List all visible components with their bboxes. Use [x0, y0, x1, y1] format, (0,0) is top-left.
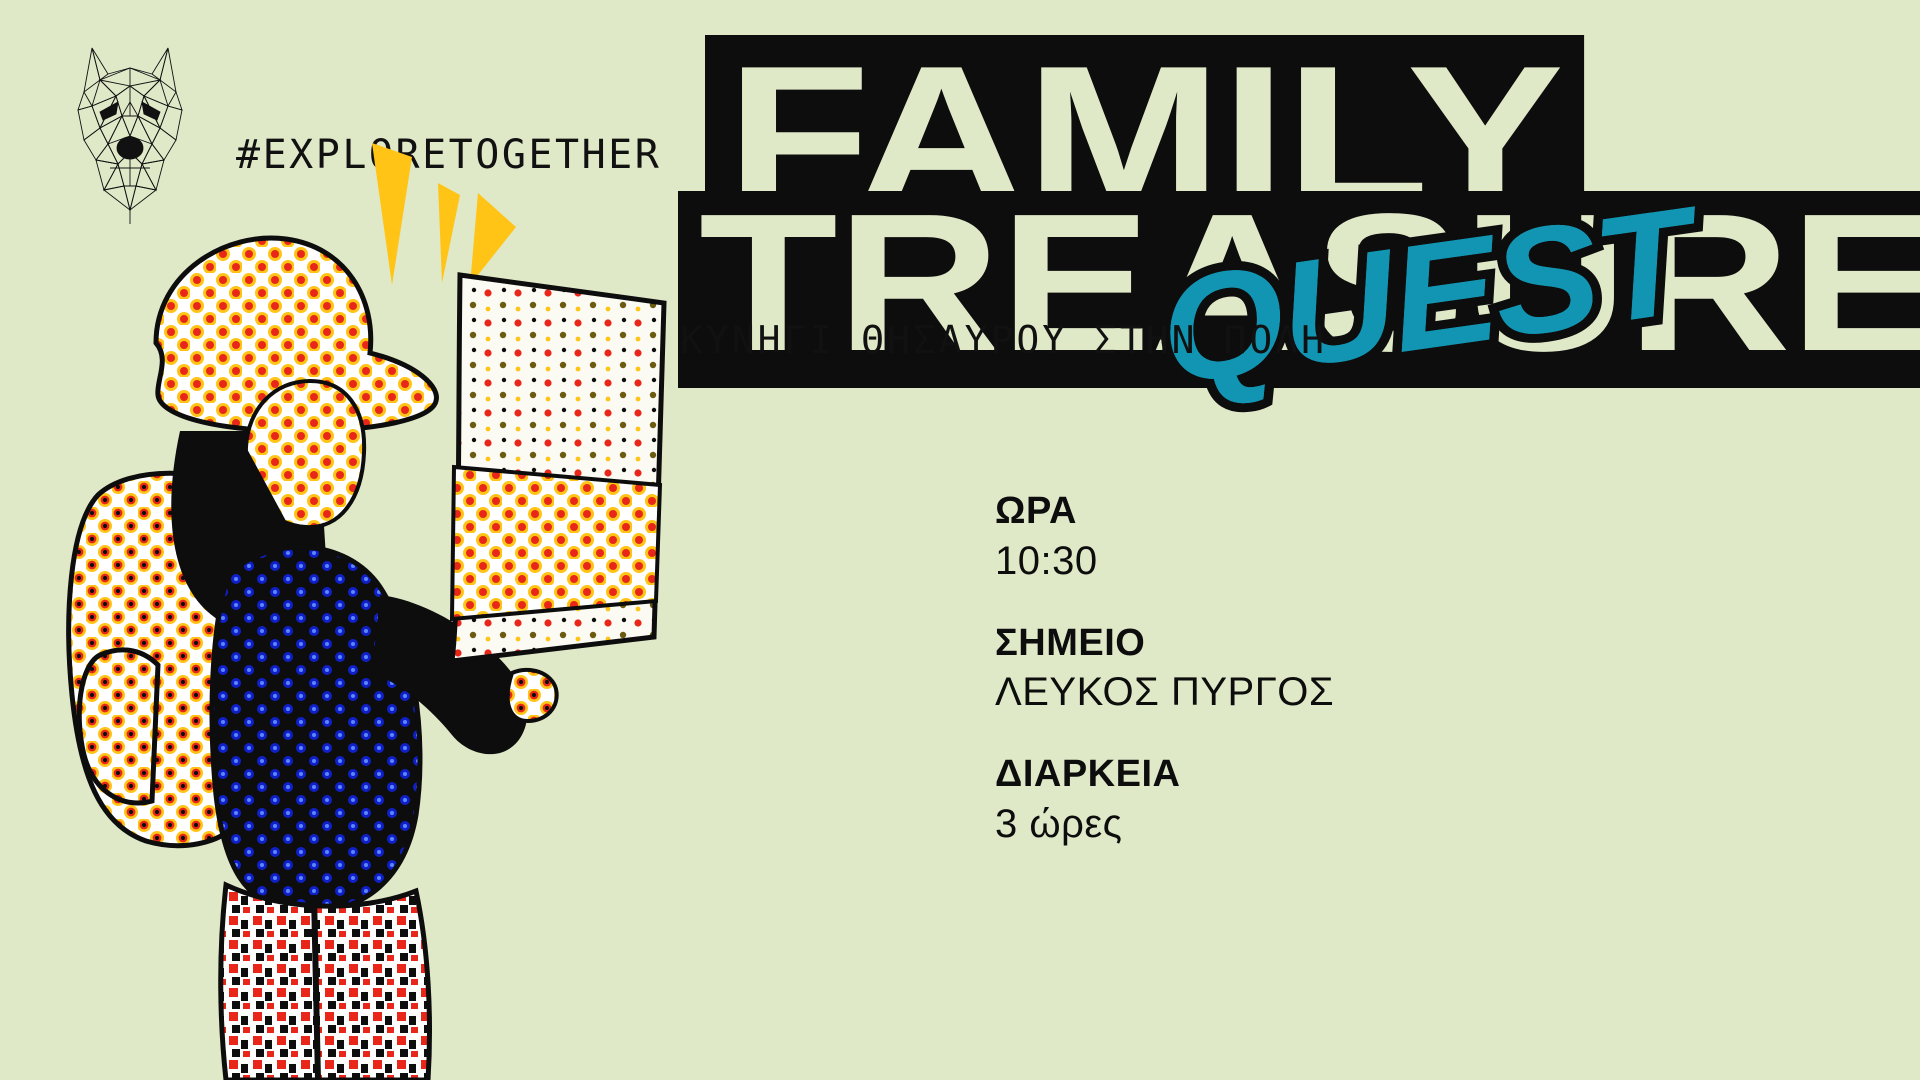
event-details: ΩΡΑ 10:30 ΣΗΜΕΙΟ ΛΕΥΚΟΣ ΠΥΡΓΟΣ ΔΙΑΡΚΕΙΑ …: [995, 490, 1334, 885]
detail-value: 10:30: [995, 536, 1334, 586]
detail-value: 3 ώρες: [995, 799, 1334, 849]
child-with-map-illustration: [60, 195, 680, 1080]
detail-time: ΩΡΑ 10:30: [995, 490, 1334, 586]
poster-canvas: #EXPLORETOGETHER: [0, 0, 1920, 1080]
detail-duration: ΔΙΑΡΚΕΙΑ 3 ώρες: [995, 753, 1334, 849]
detail-label: ΣΗΜΕΙΟ: [995, 622, 1334, 666]
detail-label: ΩΡΑ: [995, 490, 1334, 534]
detail-label: ΔΙΑΡΚΕΙΑ: [995, 753, 1334, 797]
subtitle-text: ΚΥΝΗΓΙ ΘΗΣΑΥΡΟΥ ΣΤΗΝ ΠΟΛΗ: [680, 318, 1327, 362]
detail-value: ΛΕΥΚΟΣ ΠΥΡΓΟΣ: [995, 667, 1334, 717]
detail-location: ΣΗΜΕΙΟ ΛΕΥΚΟΣ ΠΥΡΓΟΣ: [995, 622, 1334, 718]
